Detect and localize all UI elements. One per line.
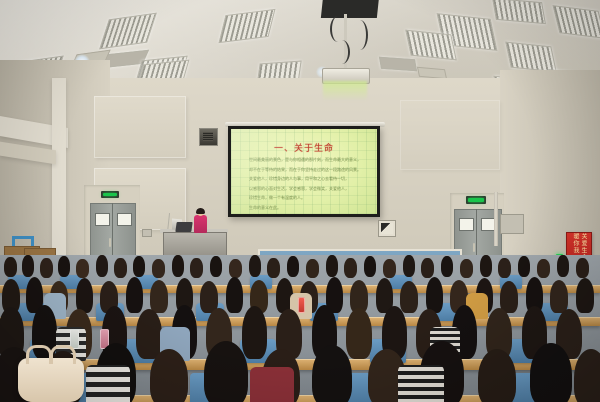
exit-sign-left (101, 191, 119, 198)
exit-icon (103, 193, 117, 197)
audience-head (312, 345, 352, 402)
door-window (95, 213, 110, 226)
audience-head (126, 277, 143, 313)
audience-head (150, 280, 168, 313)
audience-head (530, 343, 572, 402)
water-bottle (298, 297, 305, 313)
presenter (193, 209, 208, 233)
audience-head (4, 257, 17, 277)
audience-head (403, 255, 415, 277)
presenter-body (194, 215, 207, 233)
audience-head (229, 259, 242, 278)
audience-head (576, 278, 594, 313)
audience-head (400, 281, 418, 313)
audience-head (287, 256, 299, 277)
projector-cable (334, 40, 350, 64)
audience-head (557, 255, 569, 277)
audience-head (267, 258, 280, 278)
wall-panel (94, 96, 186, 158)
presenter-hair (196, 208, 205, 214)
audience-head (576, 258, 589, 278)
electrical-panel[interactable] (500, 214, 524, 234)
audience-head (172, 255, 184, 277)
audience-head (242, 306, 267, 359)
audience-head (96, 255, 108, 277)
wall-switch-box[interactable] (142, 229, 152, 237)
projector-light-beam (323, 81, 367, 101)
audience-head (478, 349, 516, 402)
exit-sign-right (466, 196, 486, 204)
ceiling-light-fixture (505, 42, 557, 73)
audience-head (326, 255, 338, 277)
audience-head (76, 278, 93, 313)
audience-head (133, 256, 145, 277)
audience-head (346, 308, 372, 359)
audience-head (150, 349, 188, 402)
audience-head (550, 280, 568, 313)
audience-head (204, 341, 248, 402)
framed-picture-icon (378, 220, 396, 237)
audience-head (426, 277, 443, 313)
audience-head (226, 277, 243, 313)
audience-head (136, 309, 162, 359)
audience-head (460, 259, 473, 278)
audience-head (190, 258, 203, 278)
audience-head (40, 258, 53, 278)
door-window (117, 213, 132, 226)
audience-head (114, 258, 127, 278)
audience-head (518, 256, 530, 277)
audience-head (480, 255, 492, 277)
projector-cable (330, 16, 346, 42)
audience-body (250, 367, 294, 402)
audience-head (152, 259, 165, 278)
audience-head (537, 259, 550, 278)
audience-head (76, 259, 89, 278)
audience-body (86, 365, 130, 402)
handbag (18, 358, 84, 402)
projector-mount-plate (321, 0, 379, 18)
audience-head (210, 256, 222, 277)
door-handle[interactable] (473, 243, 475, 252)
exit-icon (468, 198, 484, 202)
audience-head (58, 256, 70, 277)
projection-screen: 一、关于生命 世间最美丽的景色，是与你相遇的那片刻，而生命最大的意义， 却不在于… (231, 129, 377, 214)
ceiling-light-fixture (405, 30, 457, 61)
audience-head (249, 255, 261, 277)
lecture-hall-photo: 一、关于生命 世间最美丽的景色，是与你相遇的那片刻，而生命最大的意义， 却不在于… (0, 0, 600, 402)
projection-screen-frame: 一、关于生命 世间最美丽的景色，是与你相遇的那片刻，而生命最大的意义， 却不在于… (228, 126, 380, 217)
presenter-laptop (175, 222, 192, 232)
audience-head (498, 258, 511, 278)
audience-head (441, 256, 453, 277)
door-handle[interactable] (109, 238, 111, 247)
audience-head (383, 259, 396, 278)
audience-body (398, 365, 444, 402)
audience-head (421, 258, 434, 278)
screen-glare (231, 129, 377, 214)
audience-head (22, 255, 34, 277)
door-window (459, 218, 474, 231)
audience-head (306, 259, 319, 278)
audience-head (574, 349, 600, 402)
wall-speaker-icon (199, 128, 218, 146)
projector-cable (352, 20, 368, 50)
audience-area (0, 255, 600, 402)
wall-pipe (494, 192, 498, 246)
audience-head (364, 256, 376, 277)
audience-head (344, 258, 357, 278)
wall-panel (400, 100, 500, 170)
